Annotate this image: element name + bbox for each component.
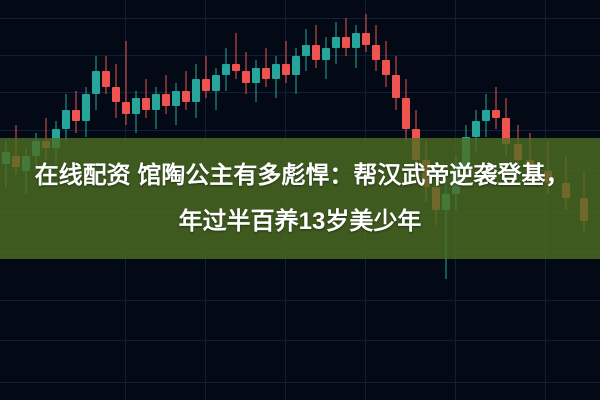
candle-body — [182, 91, 190, 103]
gridline-horizontal — [0, 300, 600, 301]
candle-body — [382, 60, 390, 75]
candlestick — [152, 87, 160, 129]
candlestick — [362, 14, 370, 52]
candle-body — [132, 98, 140, 113]
candle-body — [152, 94, 160, 109]
candlestick — [372, 25, 380, 71]
gridline-horizontal — [0, 18, 600, 19]
candlestick — [272, 56, 280, 98]
candlestick — [322, 37, 330, 79]
candle-body — [162, 94, 170, 106]
headline-line-2: 年过半百养13岁美少年 — [179, 199, 422, 245]
candlestick — [202, 56, 210, 98]
candle-body — [392, 75, 400, 98]
candlestick — [122, 41, 130, 125]
candle-body — [232, 64, 240, 72]
candlestick — [142, 79, 150, 117]
candlestick — [222, 48, 230, 90]
candle-wick — [496, 87, 497, 129]
candlestick — [102, 56, 110, 94]
candle-body — [312, 45, 320, 60]
candlestick — [262, 48, 270, 86]
candlestick — [402, 79, 410, 140]
candle-body — [242, 71, 250, 83]
candle-wick — [236, 33, 237, 79]
candle-body — [402, 98, 410, 129]
candle-body — [192, 79, 200, 102]
candlestick — [392, 56, 400, 110]
candlestick — [92, 56, 100, 110]
candlestick — [492, 87, 500, 129]
candle-body — [122, 102, 130, 114]
candle-body — [142, 98, 150, 110]
candlestick — [342, 18, 350, 56]
headline-line-1: 在线配资 馆陶公主有多彪悍：帮汉武帝逆袭登基， — [35, 153, 570, 199]
candle-body — [172, 91, 180, 106]
candle-body — [222, 64, 230, 76]
gridline-horizontal — [0, 130, 600, 131]
candle-body — [292, 56, 300, 75]
candle-body — [492, 110, 500, 118]
gridline-horizontal — [0, 340, 600, 341]
candle-body — [352, 33, 360, 48]
candlestick — [312, 25, 320, 67]
candle-body — [302, 45, 310, 57]
candlestick — [232, 33, 240, 79]
candle-body — [342, 37, 350, 49]
candlestick — [332, 22, 340, 64]
candlestick — [302, 29, 310, 71]
candlestick — [112, 64, 120, 118]
candle-body — [372, 45, 380, 60]
gridline-horizontal — [0, 382, 600, 383]
candle-body — [322, 48, 330, 60]
candlestick — [132, 91, 140, 133]
candle-body — [92, 71, 100, 94]
candlestick — [352, 25, 360, 67]
candle-body — [212, 75, 220, 90]
candle-body — [472, 121, 480, 136]
candlestick — [192, 64, 200, 118]
candle-body — [362, 33, 370, 45]
candle-body — [482, 110, 490, 122]
candlestick — [282, 41, 290, 83]
headline-banner: 在线配资 馆陶公主有多彪悍：帮汉武帝逆袭登基， 年过半百养13岁美少年 — [0, 138, 600, 259]
candlestick — [242, 52, 250, 94]
candle-body — [332, 37, 340, 49]
candle-body — [262, 68, 270, 80]
candle-wick — [286, 41, 287, 83]
candlestick — [62, 94, 70, 140]
candlestick — [292, 48, 300, 94]
candlestick — [252, 60, 260, 102]
candlestick — [172, 83, 180, 125]
candle-body — [252, 68, 260, 83]
candle-body — [202, 79, 210, 91]
candle-body — [82, 94, 90, 121]
candle-body — [272, 64, 280, 79]
candlestick — [82, 87, 90, 137]
candlestick — [382, 41, 390, 87]
candlestick — [162, 75, 170, 113]
candle-body — [72, 110, 80, 122]
gridline-horizontal — [0, 55, 600, 56]
candlestick — [482, 94, 490, 136]
candle-body — [62, 110, 70, 129]
candle-body — [102, 71, 110, 86]
gridline-horizontal — [0, 92, 600, 93]
chart-screenshot: 在线配资 馆陶公主有多彪悍：帮汉武帝逆袭登基， 年过半百养13岁美少年 — [0, 0, 600, 400]
candle-wick — [206, 56, 207, 98]
candle-body — [282, 64, 290, 76]
candle-body — [112, 87, 120, 102]
candlestick — [182, 71, 190, 109]
candlestick — [72, 91, 80, 133]
candlestick — [212, 68, 220, 110]
